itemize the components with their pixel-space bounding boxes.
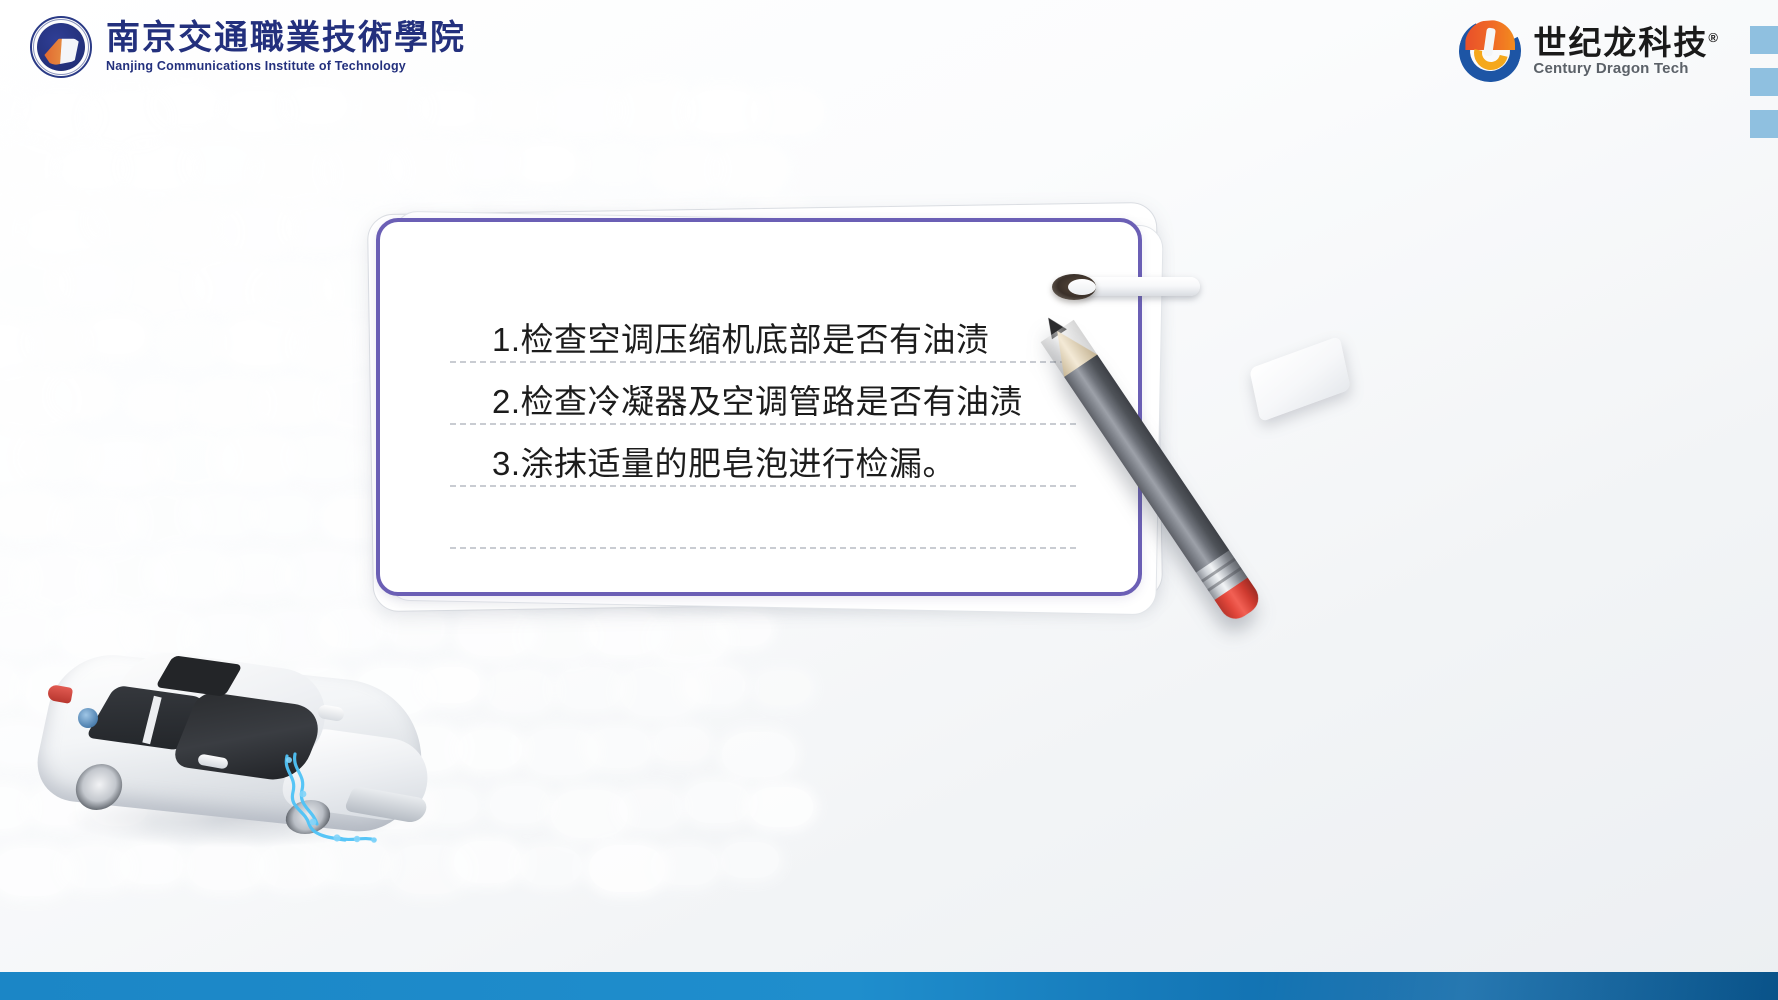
hexagon-pattern-cell — [157, 86, 217, 123]
hexagon-pattern-cell — [619, 88, 691, 133]
hexagon-pattern-cell — [589, 610, 662, 655]
blue-square-1 — [1750, 26, 1778, 54]
hexagon-pattern-cell — [191, 380, 269, 428]
hexagon-pattern-cell — [685, 667, 745, 704]
hexagon-pattern-cell — [127, 266, 206, 315]
hexagon-pattern-cell — [0, 209, 17, 243]
hexagon-pattern-cell — [588, 148, 643, 182]
university-name-cn: 南京交通職業技術學院 — [106, 21, 466, 58]
hexagon-pattern-cell — [550, 89, 620, 132]
hexagon-pattern-cell — [716, 148, 786, 192]
hexagon-pattern-cell — [0, 435, 35, 482]
company-name-cn: 世纪龙科技® — [1533, 25, 1720, 61]
century-dragon-mark-icon — [1459, 20, 1521, 82]
note-line-1: 1.检查空调压缩机底部是否有油渍 — [450, 308, 1076, 370]
hexagon-pattern-cell — [89, 319, 145, 354]
hexagon-pattern-cell — [0, 264, 65, 308]
blue-square-3 — [1750, 110, 1778, 138]
hexagon-pattern-cell — [61, 150, 123, 188]
hexagon-pattern-cell — [752, 90, 824, 134]
hexagon-pattern-cell — [88, 442, 159, 486]
hexagon-pattern-cell — [290, 436, 358, 478]
slide-canvas: 南京交通職業技術學院 Nanjing Communications Instit… — [0, 0, 1778, 1000]
hexagon-pattern-cell — [90, 205, 144, 239]
hexagon-pattern-cell — [458, 145, 512, 179]
hexagon-pattern-cell — [518, 146, 576, 182]
header-blue-squares-decoration — [1750, 26, 1778, 138]
hexagon-pattern-cell — [195, 262, 266, 306]
hexagon-pattern-cell — [755, 671, 810, 705]
hexagon-pattern-cell — [227, 554, 291, 594]
note-line-3: 3.涂抹适量的肥皂泡进行检漏。 — [450, 432, 1076, 494]
hexagon-pattern-cell — [0, 146, 54, 183]
hexagon-pattern-cell — [224, 320, 296, 365]
hexagon-pattern-cell — [326, 147, 403, 194]
hexagon-pattern-cell — [422, 91, 479, 127]
footer-bar — [0, 972, 1778, 1000]
company-logo: 世纪龙科技® Century Dragon Tech — [1459, 20, 1720, 82]
hexagon-pattern-cell — [0, 667, 20, 703]
hexagon-pattern-cell — [721, 842, 779, 878]
hexagon-pattern-cell — [128, 496, 202, 542]
note-lines: 1.检查空调压缩机底部是否有油渍2.检查冷凝器及空调管路是否有油渍3.涂抹适量的… — [450, 308, 1076, 596]
hexagon-pattern-cell — [88, 555, 166, 604]
hexagon-pattern-cell — [187, 146, 251, 185]
air-conditioning-pipe-highlight — [279, 750, 389, 846]
hexagon-pattern-cell — [619, 789, 682, 828]
hexagon-pattern-cell — [524, 729, 599, 775]
stylus-tip-ring — [1052, 274, 1096, 300]
hexagon-pattern-cell — [656, 847, 718, 885]
hexagon-pattern-cell — [0, 325, 30, 368]
hexagon-pattern-cell — [224, 91, 290, 132]
note-card: 1.检查空调压缩机底部是否有油渍2.检查冷凝器及空调管路是否有油渍3.涂抹适量的… — [376, 218, 1142, 596]
hexagon-pattern-cell — [287, 207, 351, 247]
hexagon-pattern-cell — [654, 149, 719, 190]
hexagon-pattern-cell — [254, 496, 314, 533]
hexagon-pattern-cell — [0, 376, 72, 425]
white-sedan-car-illustration — [36, 612, 436, 862]
hexagon-pattern-cell — [0, 495, 60, 536]
hexagon-pattern-cell — [454, 841, 522, 883]
hexagon-pattern-cell — [458, 610, 533, 656]
note-line-5 — [450, 556, 1076, 596]
hexagon-pattern-cell — [490, 786, 550, 823]
hexagon-pattern-cell — [0, 787, 30, 830]
stylus-pen-icon — [1052, 274, 1200, 300]
hexagon-pattern-cell — [224, 208, 292, 250]
hexagon-pattern-cell — [654, 727, 709, 761]
hexagon-pattern-cell — [722, 732, 795, 777]
hexagon-pattern-cell — [128, 384, 188, 421]
hexagon-pattern-cell — [28, 324, 87, 361]
hexagon-pattern-cell — [121, 146, 191, 190]
university-name-en: Nanjing Communications Institute of Tech… — [106, 59, 466, 73]
hexagon-pattern-cell — [620, 667, 699, 716]
hexagon-pattern-cell — [487, 670, 553, 711]
university-name-block: 南京交通職業技術學院 Nanjing Communications Instit… — [106, 21, 466, 73]
hexagon-pattern-cell — [22, 556, 101, 605]
hexagon-pattern-cell — [716, 612, 771, 646]
hexagon-pattern-cell — [392, 145, 461, 188]
hexagon-pattern-cell — [59, 498, 138, 547]
hexagon-pattern-cell — [190, 494, 256, 535]
note-line-text: 1.检查空调压缩机底部是否有油渍 — [450, 323, 996, 356]
hexagon-pattern-cell — [487, 94, 541, 128]
hexagon-pattern-cell — [551, 790, 628, 838]
hexagon-pattern-cell — [0, 89, 16, 122]
hexagon-pattern-cell — [688, 90, 758, 133]
hexagon-pattern-cell — [458, 730, 522, 770]
hexagon-pattern-cell — [22, 436, 89, 478]
university-seal-icon — [30, 16, 92, 78]
registered-trademark-icon: ® — [1708, 30, 1720, 45]
company-name-en: Century Dragon Tech — [1533, 60, 1720, 77]
car-door-badge — [78, 708, 98, 728]
hexagon-pattern-cell — [25, 210, 96, 254]
hexagon-pattern-cell — [222, 437, 294, 482]
hexagon-pattern-cell — [162, 325, 221, 361]
hexagon-pattern-cell — [157, 436, 235, 484]
hexagon-pattern-cell — [293, 321, 371, 369]
eraser-block-icon — [1249, 336, 1351, 422]
note-line-text: 2.检查冷凝器及空调管路是否有油渍 — [450, 385, 1029, 418]
university-logo: 南京交通職業技術學院 Nanjing Communications Instit… — [30, 16, 466, 78]
hexagon-pattern-cell — [589, 845, 666, 892]
hexagon-pattern-cell — [256, 151, 331, 197]
diagonal-blue-bands — [1038, 540, 1778, 1000]
company-name-cn-text: 世纪龙科技 — [1533, 24, 1708, 61]
hexagon-pattern-cell — [520, 847, 582, 885]
hexagon-pattern-cell — [55, 378, 111, 412]
hexagon-pattern-cell — [59, 264, 118, 301]
hexagon-pattern-cell — [685, 782, 750, 822]
hexagon-pattern-cell — [556, 667, 622, 708]
hexagon-pattern-cell — [587, 728, 652, 768]
company-name-block: 世纪龙科技® Century Dragon Tech — [1533, 25, 1720, 77]
hexagon-pattern-cell — [0, 557, 30, 603]
hexagon-pattern-cell — [25, 94, 98, 139]
note-line-4 — [450, 494, 1076, 556]
hexagon-pattern-cell — [261, 382, 325, 422]
blue-square-2 — [1750, 68, 1778, 96]
note-line-text: 3.涂抹适量的肥皂泡进行检漏。 — [450, 447, 962, 480]
hexagon-pattern-cell — [157, 208, 236, 257]
hexagon-pattern-cell — [154, 551, 230, 598]
hexagon-pattern-cell — [524, 614, 595, 658]
note-line-2: 2.检查冷凝器及空调管路是否有油渍 — [450, 370, 1076, 432]
hexagon-pattern-cell — [254, 268, 331, 316]
hexagon-pattern-cell — [288, 87, 348, 124]
hexagon-pattern-cell — [749, 787, 814, 827]
hexagon-pattern-cell — [88, 93, 167, 142]
hexagon-pattern-cell — [651, 616, 728, 664]
hexagon-pattern-cell — [359, 88, 428, 131]
hexagon-pattern-cell — [286, 552, 364, 600]
